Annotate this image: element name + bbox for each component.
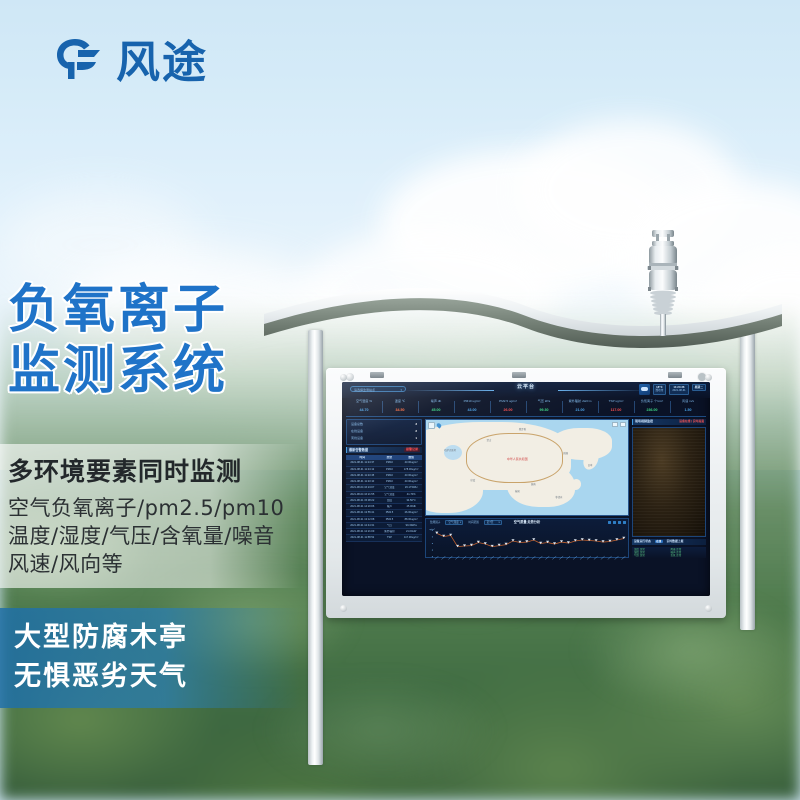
metric-label: PM2.5 ug/m³ (490, 400, 526, 404)
map-label: 菲律宾 (555, 496, 562, 499)
device-stat-row: 设备总数3 (351, 423, 417, 427)
metric-value: 44.70 (346, 408, 382, 412)
cloud-icon (639, 384, 650, 395)
map-tool-icon[interactable] (428, 422, 435, 429)
table-cell: 2021-08-04 16:24:07 (346, 486, 379, 489)
table-cell: 43.00ug/m³ (400, 480, 422, 483)
table-cell: 43.00ug/m³ (400, 461, 422, 464)
feature-text-block: 多环境要素同时监测 空气负氧离子/pm2.5/pm10 温度/湿度/气压/含氧量… (0, 444, 300, 588)
device-stats-box: 设备总数3在线设备2离线设备1 (346, 419, 422, 445)
header-wing-left (404, 390, 494, 391)
alarm-column-header: 类型 (379, 456, 401, 459)
metric-label: PM10 ug/m³ (454, 400, 490, 404)
metric-value: 236.00 (634, 408, 670, 412)
video-panel-alert: 设备在线 | 实时画面 (679, 420, 704, 423)
durability-line-2: 无惧恶劣天气 (14, 657, 300, 696)
header-city: 潍坊市 (656, 389, 664, 392)
metric-value: 99.30 (526, 408, 562, 412)
table-cell: 2021-08-31 14:20:06 (346, 505, 379, 508)
cabinet-bracket (370, 372, 384, 378)
brand-name: 风途 (116, 26, 208, 90)
header-wing-right (558, 390, 648, 391)
table-cell: 2021-08-31 15:38:22 (346, 499, 379, 502)
header-date: 2021-08-31 (672, 389, 685, 392)
map-region-label: 中华人民共和国 (507, 458, 528, 462)
table-cell: 178.00ug/m³ (400, 468, 422, 471)
table-cell: 41.70% (400, 493, 422, 496)
metric-value: 21.00 (562, 408, 598, 412)
trend-chart-panel: 监测因子 空气湿度 时间范围 近7天 空气质量 走势分析 ug/m³ (425, 518, 629, 558)
device-status-column: 温度 正常 湿度 正常 气压 正常 (634, 548, 668, 557)
metric-label: 空气湿度 % (346, 400, 382, 404)
table-cell: 空气湿度 (379, 486, 401, 489)
map-label: 韩国 (563, 452, 568, 455)
durability-line-1: 大型防腐木亭 (14, 618, 300, 657)
brand-logo: 风途 (44, 26, 208, 90)
stat-key: 离线设备 (351, 437, 363, 441)
cabinet-bracket (668, 372, 682, 378)
device-stat-row: 离线设备1 (351, 437, 417, 441)
table-cell: 2021-08-31 11:58:52 (346, 536, 379, 539)
metric-value: 1.50 (670, 408, 706, 412)
table-row[interactable]: 2021-08-31 11:58:52TSP117.00ug/m³ (346, 535, 422, 541)
table-cell: PM10 (379, 468, 401, 471)
left-panel: 设备总数3在线设备2离线设备1 最新告警数据 报警记录 时间类型数值 2021-… (346, 419, 422, 558)
cloud-platform-dashboard: 云平台 请选择监测站点 ▾ 18℃ 潍坊市 11:24:36 2021-08-3… (342, 382, 710, 596)
alarm-column-header: 数值 (400, 456, 422, 459)
alarm-column-header: 时间 (346, 456, 379, 459)
table-cell: 2021-08-31 11:24:37 (346, 461, 379, 464)
device-panel-title: 设备运行状态 (634, 540, 651, 543)
video-panel-header: 现场视频监控 设备在线 | 实时画面 (632, 419, 706, 425)
alarm-table-body: 2021-08-31 11:24:37PM1043.00ug/m³2021-08… (346, 460, 422, 541)
dashboard-body: 设备总数3在线设备2离线设备1 最新告警数据 报警记录 时间类型数值 2021-… (346, 419, 706, 558)
metric-value: 26.00 (490, 408, 526, 412)
table-cell: 气压 (379, 524, 401, 527)
temperature-tile: 18℃ 潍坊市 (653, 384, 667, 395)
alarm-table[interactable]: 时间类型数值 2021-08-31 11:24:37PM1043.00ug/m³… (346, 455, 422, 558)
weekday-tile: 星期二 (692, 384, 706, 391)
durability-text-block: 大型防腐木亭 无惧恶劣天气 (0, 608, 300, 708)
table-cell: TSP (379, 536, 401, 539)
device-stat-row: 在线设备2 (351, 430, 417, 434)
metric-label: 温度 ℃ (382, 400, 418, 404)
metric-tile: TSP ug/m³117.00 (598, 399, 634, 416)
chart-action-buttons[interactable] (608, 521, 626, 524)
cabinet-bolt (340, 374, 347, 381)
table-cell: 空气湿度 (379, 493, 401, 496)
device-status-line: 气压 正常 (634, 554, 668, 557)
weather-sensor-unit (640, 228, 686, 338)
table-cell: 紫外辐射 (379, 530, 401, 533)
dashboard-screen[interactable]: 云平台 请选择监测站点 ▾ 18℃ 潍坊市 11:24:36 2021-08-3… (342, 382, 710, 596)
metric-tile: 紫外辐射 uW/cm21.00 (562, 399, 598, 416)
feature-line-2: 温度/湿度/气压/含氧量/噪音 (8, 522, 292, 550)
metric-value: 45.00 (418, 408, 454, 412)
table-cell: 2021-08-31 13:55:41 (346, 511, 379, 514)
metric-label: 负氧离子 个/cm³ (634, 400, 670, 404)
map-label: 蒙古 (487, 439, 492, 442)
table-cell: PM10 (379, 474, 401, 477)
feature-title: 多环境要素同时监测 (8, 452, 292, 488)
table-cell: 43.00ug/m³ (400, 474, 422, 477)
camera-feed[interactable] (632, 427, 706, 537)
device-panel-subtitle: 实时数据上报 (667, 540, 684, 543)
fengtu-cloud-logo-icon (44, 32, 106, 84)
feature-line-3: 风速/风向等 (8, 550, 292, 578)
device-status-badge: 在线 (655, 540, 663, 543)
map-label: 越南 (531, 483, 536, 486)
metric-tile: 空气湿度 %44.70 (346, 399, 382, 416)
table-cell: 2021-08-31 11:24:12 (346, 468, 379, 471)
map-layer-button[interactable] (612, 422, 618, 427)
header-status-cluster: 18℃ 潍坊市 11:24:36 2021-08-31 星期二 (639, 384, 706, 395)
alarm-badge: 报警记录 (404, 448, 420, 452)
metric-tile: PM2.5 ug/m³26.00 (490, 399, 526, 416)
chart-action-icon[interactable] (613, 521, 616, 524)
chart-title: 空气质量 走势分析 (426, 520, 628, 524)
cabinet-bracket (512, 372, 526, 378)
table-cell: 2021-08-31 11:23:45 (346, 474, 379, 477)
metric-value: 34.50 (382, 408, 418, 412)
metric-label: TSP ug/m³ (598, 400, 634, 404)
table-cell: 2021-08-31 12:21:09 (346, 530, 379, 533)
dashboard-header: 云平台 请选择监测站点 ▾ 18℃ 潍坊市 11:24:36 2021-08-3… (342, 382, 710, 398)
trend-line-chart: ug/m³ (428, 527, 626, 560)
table-cell: PM2.5 (379, 511, 401, 514)
metric-tile: 温度 ℃34.50 (382, 399, 418, 416)
stat-value: 2 (415, 430, 417, 434)
svg-text:ug/m³: ug/m³ (429, 528, 435, 531)
table-cell: 34.50℃ (400, 499, 422, 502)
metric-label: 噪声 db (418, 400, 454, 404)
metric-tile: PM10 ug/m³43.00 (454, 399, 490, 416)
cabinet-bolt (705, 605, 712, 612)
table-cell: 2021-08-31 12:44:31 (346, 524, 379, 527)
china-map[interactable]: 中华人民共和国 蒙古 哈萨克斯坦 俄罗斯 日本 韩国 印度 泰国 越南 菲律宾 (425, 419, 629, 516)
table-cell: 噪声 (379, 505, 401, 508)
center-panel: 中华人民共和国 蒙古 哈萨克斯坦 俄罗斯 日本 韩国 印度 泰国 越南 菲律宾 (425, 419, 629, 558)
device-status-line: 负氧 正常 (671, 554, 705, 557)
table-cell: 88.00ug/m³ (400, 518, 422, 521)
metric-value: 43.00 (454, 408, 490, 412)
metric-label: 气压 kPa (526, 400, 562, 404)
metric-label: 紫外辐射 uW/cm (562, 400, 598, 404)
alarm-panel-header: 最新告警数据 报警记录 (346, 447, 422, 453)
table-cell: 26.17%RH (400, 486, 422, 489)
map-label: 哈萨克斯坦 (444, 449, 456, 452)
datetime-tile: 11:24:36 2021-08-31 (669, 384, 688, 395)
cabinet-bolt (340, 605, 347, 612)
table-cell: PM10 (379, 461, 401, 464)
table-cell: PM2.5 (379, 518, 401, 521)
map-label: 泰国 (515, 490, 520, 493)
table-cell: 45.00db (400, 505, 422, 508)
table-cell: PM10 (379, 480, 401, 483)
chart-action-icon[interactable] (608, 521, 611, 524)
table-cell: 温度 (379, 499, 401, 502)
headline: 负氧离子 监测系统 (8, 280, 298, 403)
headline-line-1: 负氧离子 (8, 280, 298, 341)
headline-line-2: 监测系统 (8, 341, 298, 402)
support-post-left (308, 330, 323, 765)
metric-tile: 噪声 db45.00 (418, 399, 454, 416)
metric-label: 风速 m/s (670, 400, 706, 404)
cabinet-bolt (705, 374, 712, 381)
device-panel-header: 设备运行状态 在线 实时数据上报 (632, 539, 706, 544)
metric-tile: 风速 m/s1.50 (670, 399, 706, 416)
table-cell: 2021-08-31 11:23:10 (346, 480, 379, 483)
lake (444, 445, 462, 460)
metric-value: 117.00 (598, 408, 634, 412)
metric-tile: 负氧离子 个/cm³236.00 (634, 399, 670, 416)
chart-action-icon[interactable] (618, 521, 621, 524)
map-label: 俄罗斯 (519, 428, 526, 431)
wave-canopy-roof (258, 286, 788, 356)
site-select-dropdown[interactable]: 请选择监测站点 ▾ (350, 386, 406, 392)
alarm-panel-title: 最新告警数据 (349, 448, 368, 452)
map-fullscreen-button[interactable] (620, 422, 626, 427)
table-cell: 26.00ug/m³ (400, 511, 422, 514)
map-label: 印度 (470, 479, 475, 482)
site-select-value: 请选择监测站点 (354, 388, 375, 392)
support-post-right (740, 330, 755, 630)
chart-action-icon[interactable] (623, 521, 626, 524)
map-label: 日本 (588, 464, 593, 467)
right-panel: 现场视频监控 设备在线 | 实时画面 设备运行状态 在线 实时数据上报 温度 正… (632, 419, 706, 558)
metrics-strip: 空气湿度 %44.70温度 ℃34.50噪声 db45.00PM10 ug/m³… (346, 399, 706, 417)
device-status-grid: 温度 正常 湿度 正常 气压 正常 风速 正常 噪声 正常 负氧 正常 (632, 547, 706, 558)
metric-tile: 气压 kPa99.30 (526, 399, 562, 416)
stat-key: 设备总数 (351, 423, 363, 427)
feature-line-1: 空气负氧离子/pm2.5/pm10 (8, 494, 292, 522)
stat-value: 1 (415, 437, 417, 441)
table-cell: 2021-08-04 16:21:55 (346, 493, 379, 496)
device-status-column: 风速 正常 噪声 正常 负氧 正常 (671, 548, 705, 557)
table-cell: 117.00ug/m³ (400, 536, 422, 539)
landmass (425, 469, 483, 513)
chevron-down-icon: ▾ (400, 387, 402, 393)
table-cell: 2021-08-31 13:12:08 (346, 518, 379, 521)
table-cell: 99.30kPa (400, 524, 422, 527)
video-panel-title: 现场视频监控 (635, 420, 653, 424)
stat-value: 3 (415, 423, 417, 427)
header-week: 星期二 (695, 386, 703, 389)
table-cell: 21.00uW (400, 530, 422, 533)
stat-key: 在线设备 (351, 430, 363, 434)
